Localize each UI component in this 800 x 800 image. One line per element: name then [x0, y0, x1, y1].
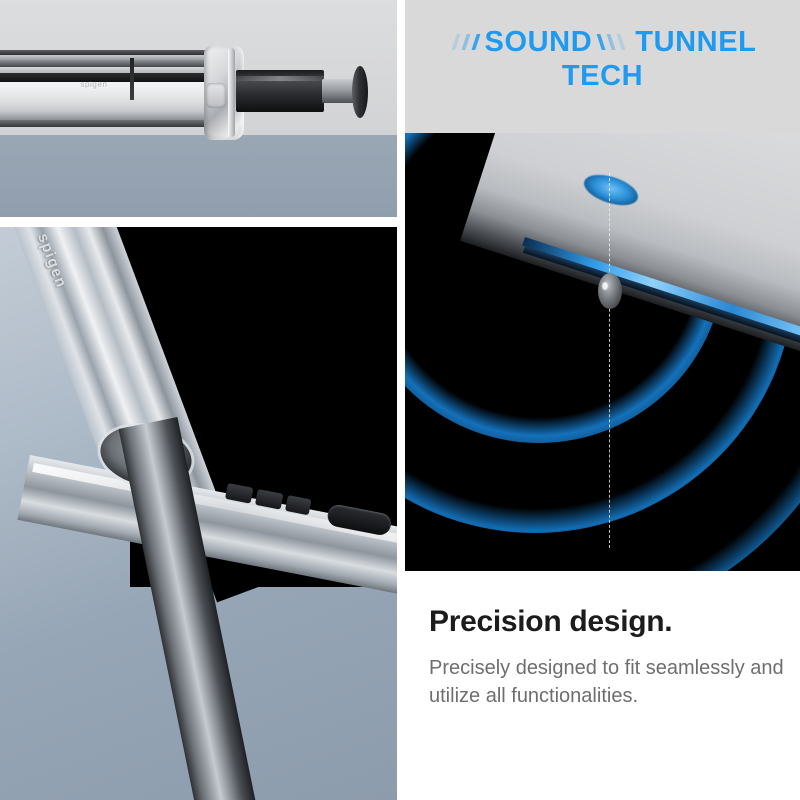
- panel-pen-slot: spigen: [0, 0, 397, 217]
- headline-line-2: TECH: [405, 60, 800, 92]
- copy-body: Precisely designed to fit seamlessly and…: [429, 654, 788, 711]
- product-feature-grid: spigen spigen: [0, 0, 800, 800]
- clear-case-body: [0, 50, 235, 134]
- case-band: [0, 127, 235, 134]
- panel-headline: SOUND TUNNEL TECH: [405, 0, 800, 133]
- spen-shaft-highlight: [236, 76, 324, 81]
- headline-block: SOUND TUNNEL TECH: [405, 26, 800, 93]
- headline-sound-word: SOUND: [485, 26, 593, 58]
- pen-slot-divider: [130, 58, 134, 100]
- panel-copy: Precision design. Precisely designed to …: [405, 571, 800, 800]
- copy-title: Precision design.: [429, 605, 788, 638]
- case-band: [0, 112, 235, 120]
- panel-pen-slot-background-lower: [0, 135, 397, 217]
- embossed-brand-text: spigen: [62, 78, 126, 92]
- speaker-port-icon: [598, 273, 622, 309]
- sound-wave-right-icon: [599, 34, 628, 50]
- panel-pen-removed: spigen: [0, 227, 397, 800]
- spen-end-knob: [352, 66, 368, 118]
- copy-inner: Precision design. Precisely designed to …: [429, 605, 788, 711]
- sound-wave-left-icon: [449, 34, 478, 50]
- case-band: [0, 120, 235, 127]
- headline-tunnel-word: TUNNEL: [635, 26, 756, 58]
- vertical-gutter: [397, 0, 405, 800]
- headline-line-1: SOUND TUNNEL: [405, 26, 800, 58]
- case-cap-cutout: [206, 83, 226, 108]
- spen-neck: [322, 79, 356, 103]
- case-band: [0, 60, 235, 67]
- center-axis-dashed-line: [609, 173, 610, 548]
- panel-sound-tunnel: [405, 133, 800, 571]
- sound-wave-stage: [405, 133, 800, 571]
- horizontal-gutter: [0, 217, 397, 227]
- case-cap-edge-highlight: [228, 48, 235, 137]
